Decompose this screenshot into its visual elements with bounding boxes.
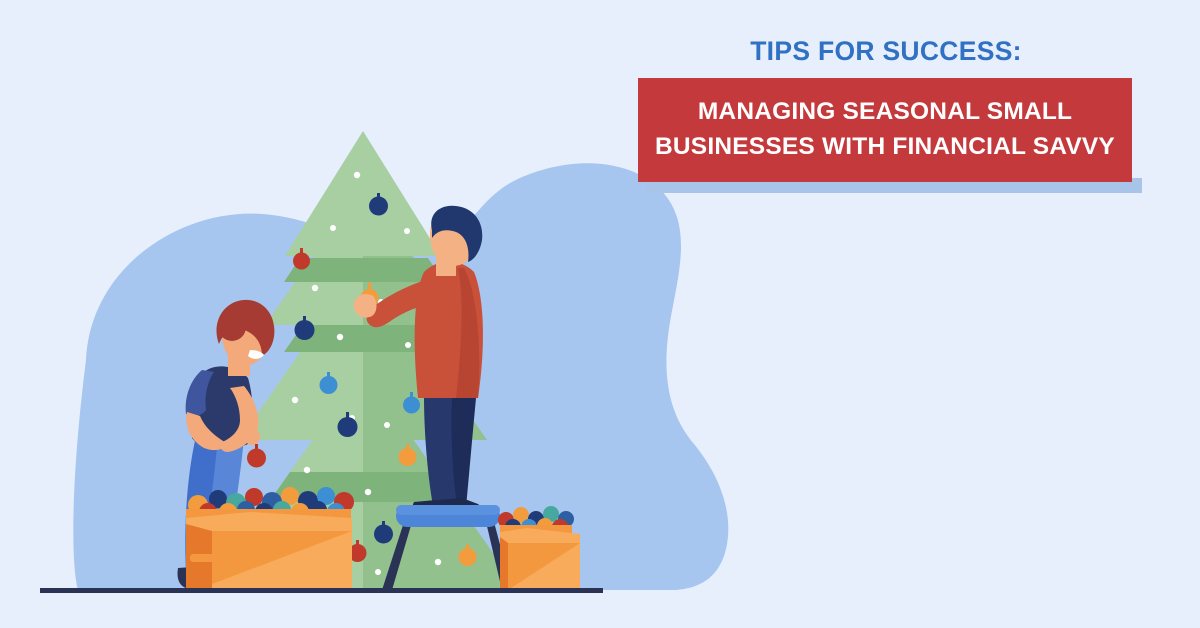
floor-line — [40, 588, 603, 593]
eyebrow-heading: TIPS FOR SUCCESS: — [638, 36, 1134, 78]
ornament-box-large — [186, 487, 354, 590]
woman-hand — [244, 429, 260, 445]
title-line-2: BUSINESSES WITH FINANCIAL SAVVY — [655, 130, 1115, 165]
box-small-side — [500, 537, 508, 590]
header-block: TIPS FOR SUCCESS: MANAGING SEASONAL SMAL… — [638, 36, 1134, 182]
box-large-handle — [190, 554, 216, 562]
title-banner-wrapper: MANAGING SEASONAL SMALL BUSINESSES WITH … — [638, 78, 1134, 182]
stool-top-highlight — [396, 505, 500, 515]
poster-canvas: TIPS FOR SUCCESS: MANAGING SEASONAL SMAL… — [0, 0, 1200, 628]
title-banner: MANAGING SEASONAL SMALL BUSINESSES WITH … — [638, 78, 1132, 182]
title-line-1: MANAGING SEASONAL SMALL — [698, 95, 1072, 130]
ornament-box-small — [498, 506, 580, 590]
